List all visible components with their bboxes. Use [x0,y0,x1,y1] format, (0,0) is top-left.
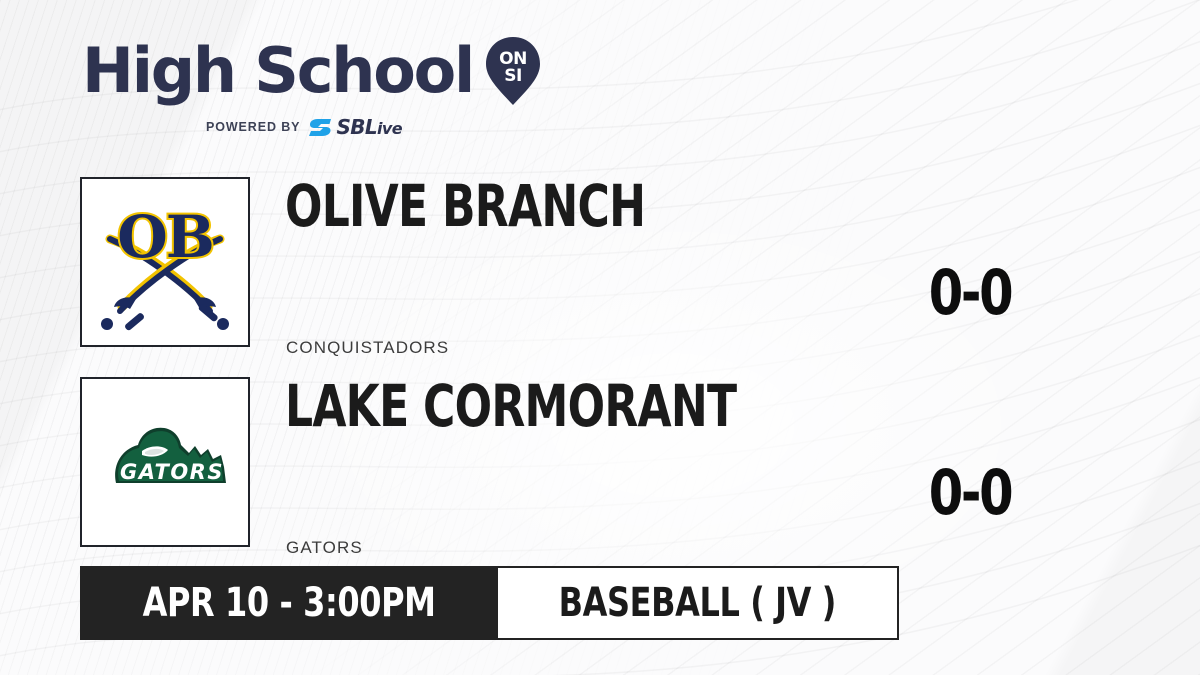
game-datetime-block: APR 10 - 3:00PM [80,566,498,640]
brand-header: High School ON SI POWERED BY SBLive [82,36,541,139]
team-logo-box-away: GATORS [80,377,250,547]
brand-title: High School [82,42,473,100]
olive-branch-monogram: OB [117,203,213,271]
game-datetime-text: APR 10 - 3:00PM [143,580,436,626]
brand-row: High School ON SI [82,36,541,106]
game-sport-text: BASEBALL ( JV ) [559,580,836,626]
sblive-logo: SBLive [309,115,402,139]
team-mascot-home: CONQUISTADORS [286,338,449,358]
powered-by-label: POWERED BY [206,120,300,134]
team-mascot-away: GATORS [286,538,363,558]
on-si-pin-icon: ON SI [485,36,541,106]
pin-label-bottom: SI [504,66,522,86]
game-info-bar: APR 10 - 3:00PM BASEBALL ( JV ) [80,566,899,640]
team-name-away: LAKE CORMORANT [285,377,736,435]
powered-by-row: POWERED BY SBLive [82,115,541,139]
team-name-home: OLIVE BRANCH [285,177,645,235]
sblive-s-mark [309,117,333,138]
gators-wordmark: GATORS [120,460,224,484]
olive-branch-sabers-icon: OB [90,187,240,337]
lake-cormorant-gator-icon: GATORS [90,387,240,537]
game-sport-block: BASEBALL ( JV ) [498,566,899,640]
sblive-wordmark: SBLive [336,115,402,139]
team-record-away: 0-0 [914,462,1026,524]
matchup-graphic: High School ON SI POWERED BY SBLive [0,0,1200,675]
team-logo-box-home: OB [80,177,250,347]
team-record-home: 0-0 [914,262,1026,324]
